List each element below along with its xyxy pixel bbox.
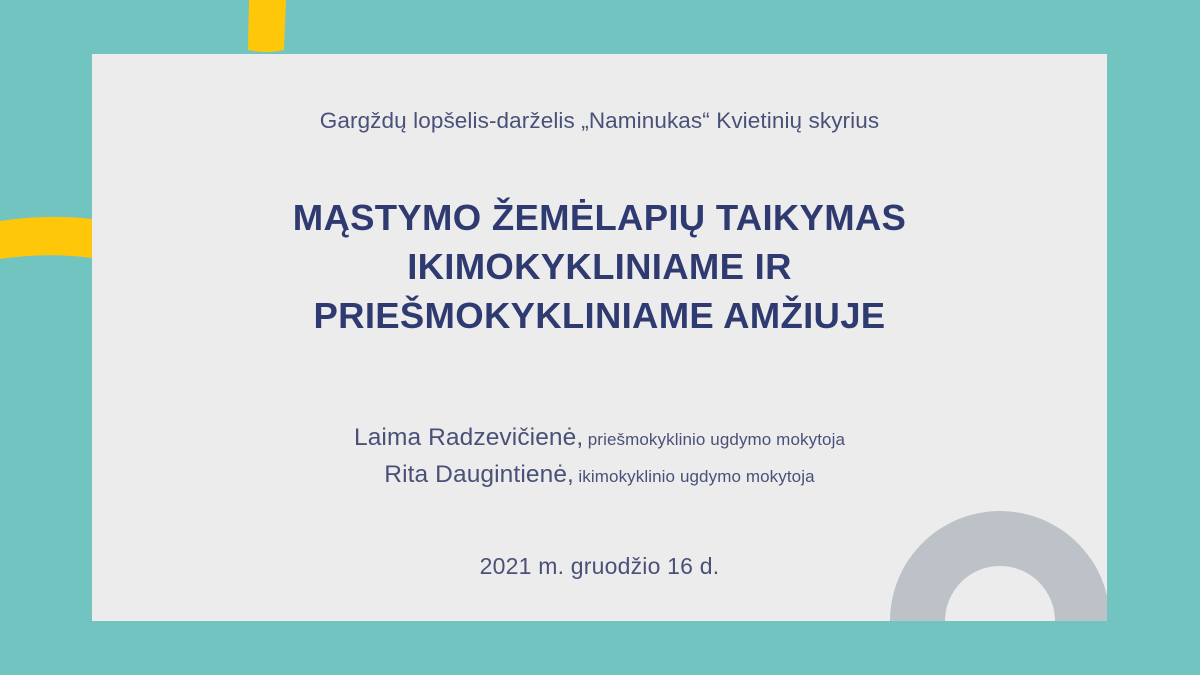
author-name: Rita Daugintienė,: [384, 461, 574, 488]
author-entry: Laima Radzevičienė, priešmokyklinio ugdy…: [354, 419, 845, 456]
content-panel: Gargždų lopšelis-darželis „Naminukas“ Kv…: [92, 54, 1107, 621]
title-line-1: MĄSTYMO ŽEMĖLAPIŲ TAIKYMAS: [293, 194, 906, 243]
author-entry: Rita Daugintienė, ikimokyklinio ugdymo m…: [354, 456, 845, 493]
title-line-3: PRIEŠMOKYKLINIAME AMŽIUJE: [293, 292, 906, 341]
yellow-horizontal-band-shape: [0, 217, 92, 259]
author-role: priešmokyklinio ugdymo mokytoja: [588, 430, 845, 449]
page-title: MĄSTYMO ŽEMĖLAPIŲ TAIKYMAS IKIMOKYKLINIA…: [293, 194, 906, 341]
title-line-2: IKIMOKYKLINIAME IR: [293, 243, 906, 292]
author-name: Laima Radzevičienė,: [354, 424, 583, 451]
yellow-vertical-bar-shape: [248, 0, 286, 52]
presentation-slide: Gargždų lopšelis-darželis „Naminukas“ Kv…: [0, 0, 1200, 675]
organization-name: Gargždų lopšelis-darželis „Naminukas“ Kv…: [320, 108, 879, 134]
presentation-date: 2021 m. gruodžio 16 d.: [480, 553, 720, 580]
slide-text-stack: Gargždų lopšelis-darželis „Naminukas“ Kv…: [92, 54, 1107, 621]
author-list: Laima Radzevičienė, priešmokyklinio ugdy…: [354, 419, 845, 493]
author-role: ikimokyklinio ugdymo mokytoja: [578, 467, 814, 486]
